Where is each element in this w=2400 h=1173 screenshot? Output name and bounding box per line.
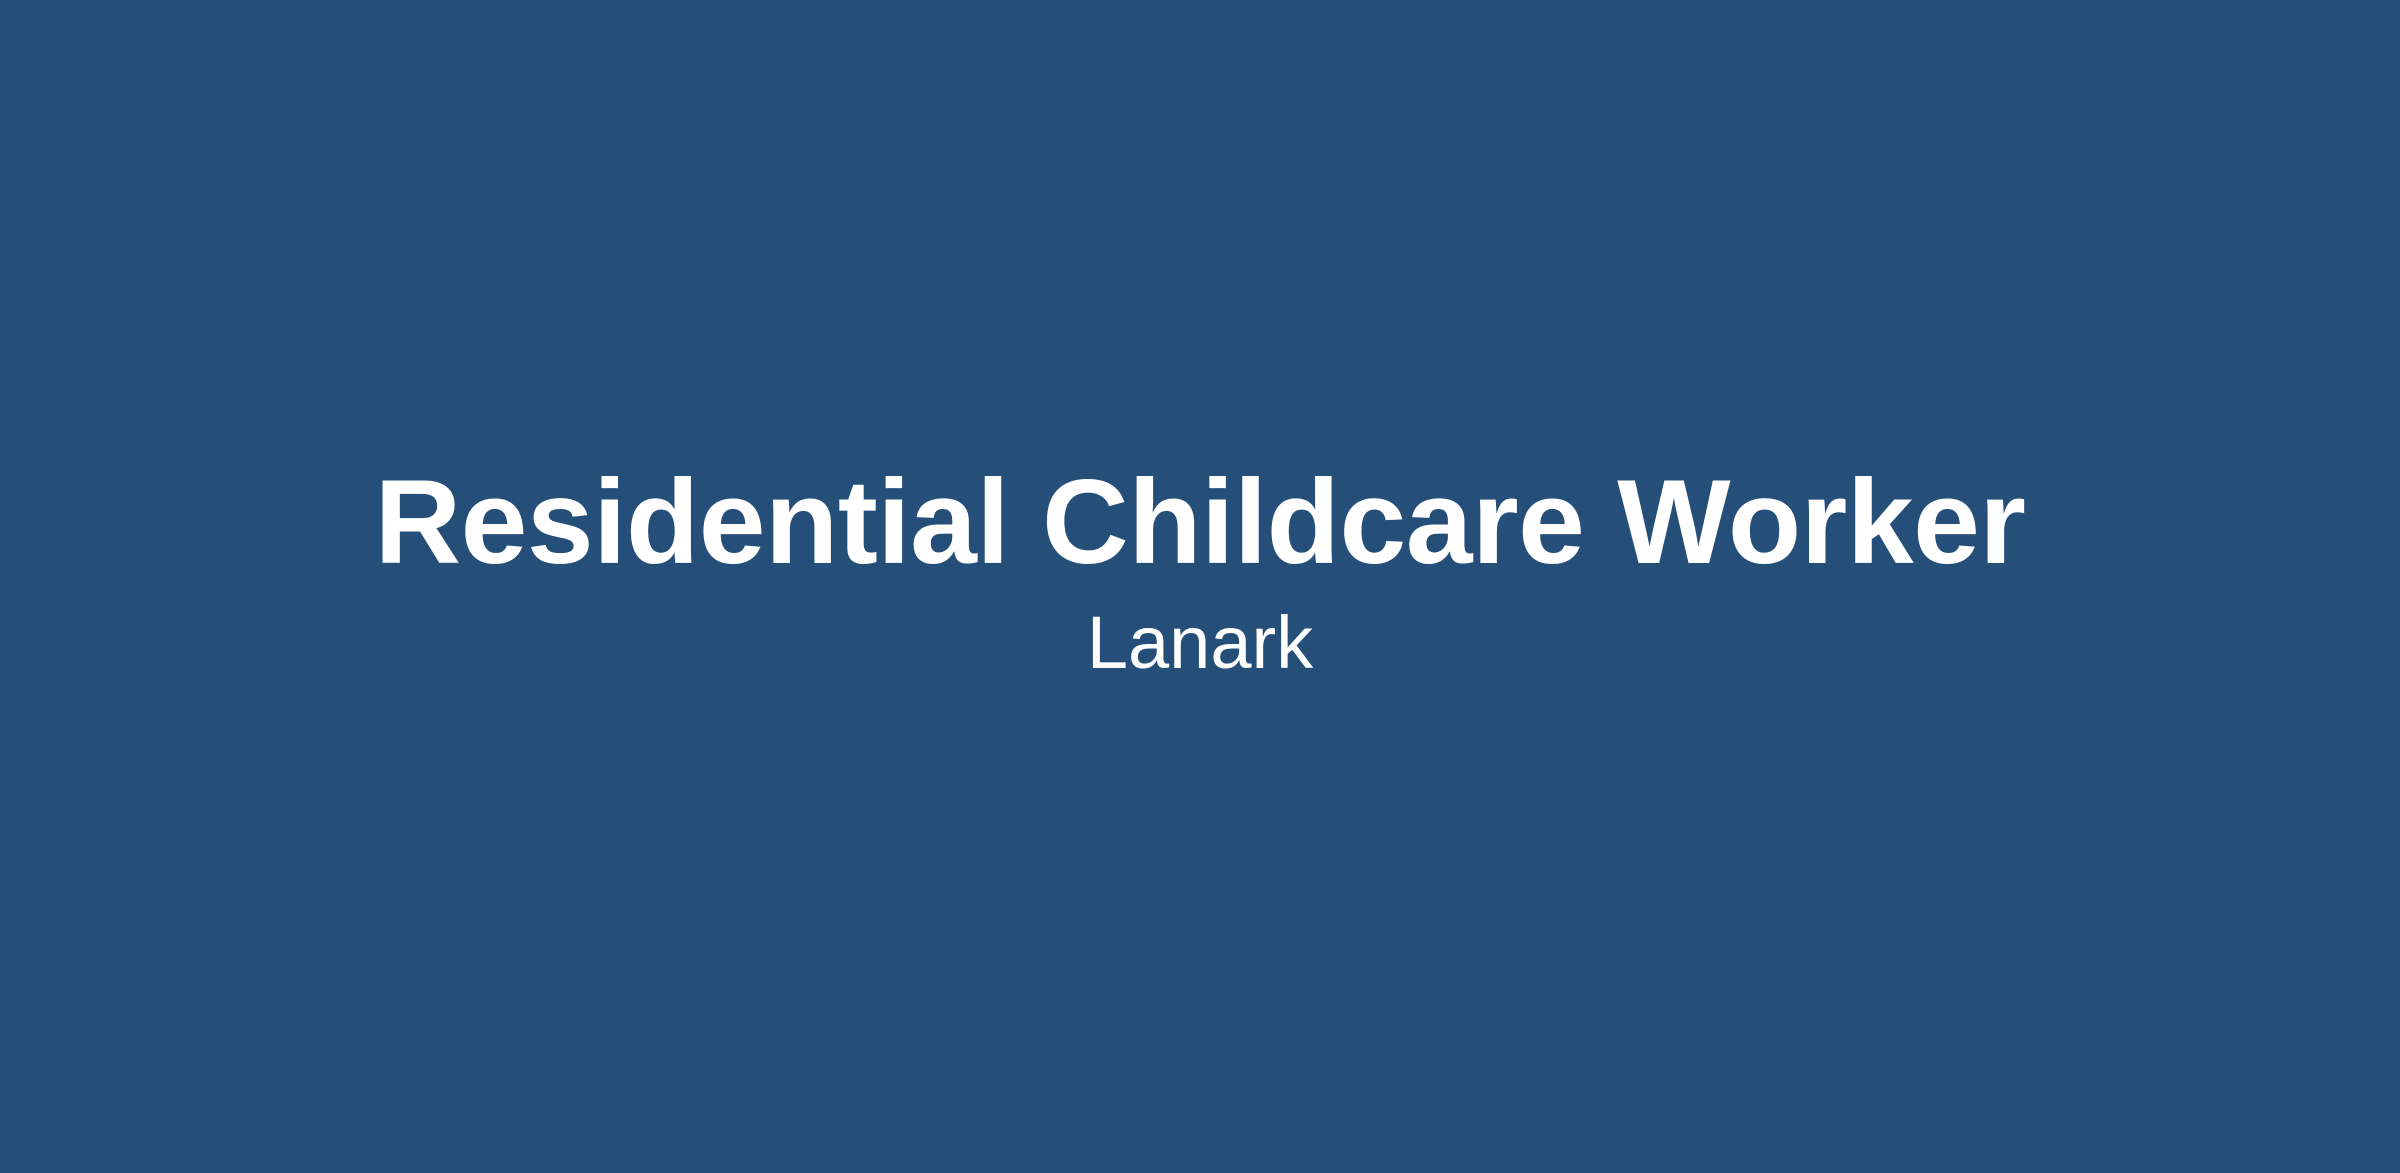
job-location-subtitle: Lanark [1087, 606, 1313, 680]
page-title: Residential Childcare Worker [375, 462, 2026, 582]
job-listing-card: Residential Childcare Worker Lanark [0, 0, 2400, 1173]
card-text-block: Residential Childcare Worker Lanark [0, 0, 2400, 1173]
